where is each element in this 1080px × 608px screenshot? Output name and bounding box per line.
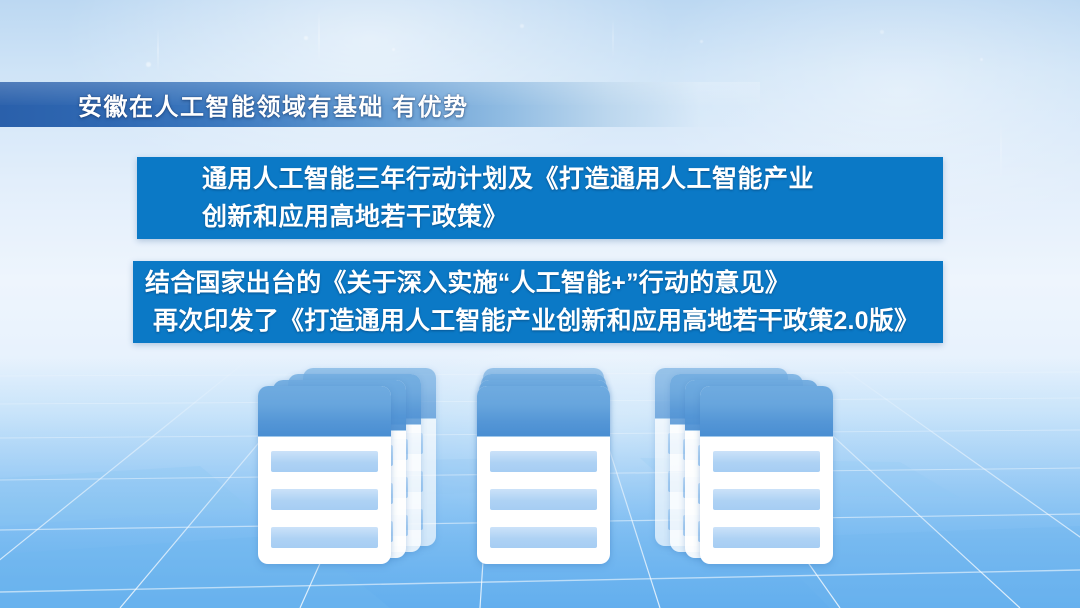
document-card-body: [258, 437, 391, 548]
light-streak: [318, 10, 320, 62]
policy-box-2: 结合国家出台的《关于深入实施“人工智能+”行动的意见》 再次印发了《打造通用人工…: [133, 261, 943, 343]
document-card-body: [700, 437, 833, 548]
light-streak: [1000, 120, 1002, 180]
particle-dot: [146, 62, 151, 67]
document-line: [490, 527, 597, 548]
particle-dot: [980, 58, 983, 61]
graphic-canvas: 安徽在人工智能领域有基础 有优势 通用人工智能三年行动计划及《打造通用人工智能产…: [0, 0, 1080, 608]
light-streak: [157, 28, 159, 72]
particle-dot: [880, 30, 884, 34]
policy-box-1-line-2: 创新和应用高地若干政策》: [202, 198, 943, 236]
document-line: [713, 527, 820, 548]
document-line: [713, 451, 820, 472]
document-card-front: [258, 386, 391, 564]
document-card-body: [477, 437, 610, 548]
headline-bar: 安徽在人工智能领域有基础 有优势: [0, 82, 760, 127]
document-card-header: [258, 386, 391, 437]
document-line: [490, 451, 597, 472]
policy-box-2-line-1: 结合国家出台的《关于深入实施“人工智能+”行动的意见》: [145, 264, 943, 302]
page-title: 安徽在人工智能领域有基础 有优势: [78, 87, 469, 122]
policy-box-1: 通用人工智能三年行动计划及《打造通用人工智能产业 创新和应用高地若干政策》: [137, 157, 943, 239]
document-card-front: [477, 386, 610, 564]
particle-dot: [700, 40, 703, 43]
document-card-header: [477, 386, 610, 437]
light-streak: [612, 18, 614, 58]
policy-box-1-line-1: 通用人工智能三年行动计划及《打造通用人工智能产业: [202, 160, 943, 198]
particle-dot: [520, 24, 524, 28]
document-card-front: [700, 386, 833, 564]
particle-dot: [392, 48, 395, 51]
policy-box-2-line-2: 再次印发了《打造通用人工智能产业创新和应用高地若干政策2.0版》: [145, 302, 943, 340]
document-line: [271, 527, 378, 548]
particle-dot: [304, 36, 308, 40]
document-line: [490, 489, 597, 510]
document-card-header: [700, 386, 833, 437]
document-line: [271, 489, 378, 510]
document-line: [713, 489, 820, 510]
document-line: [271, 451, 378, 472]
